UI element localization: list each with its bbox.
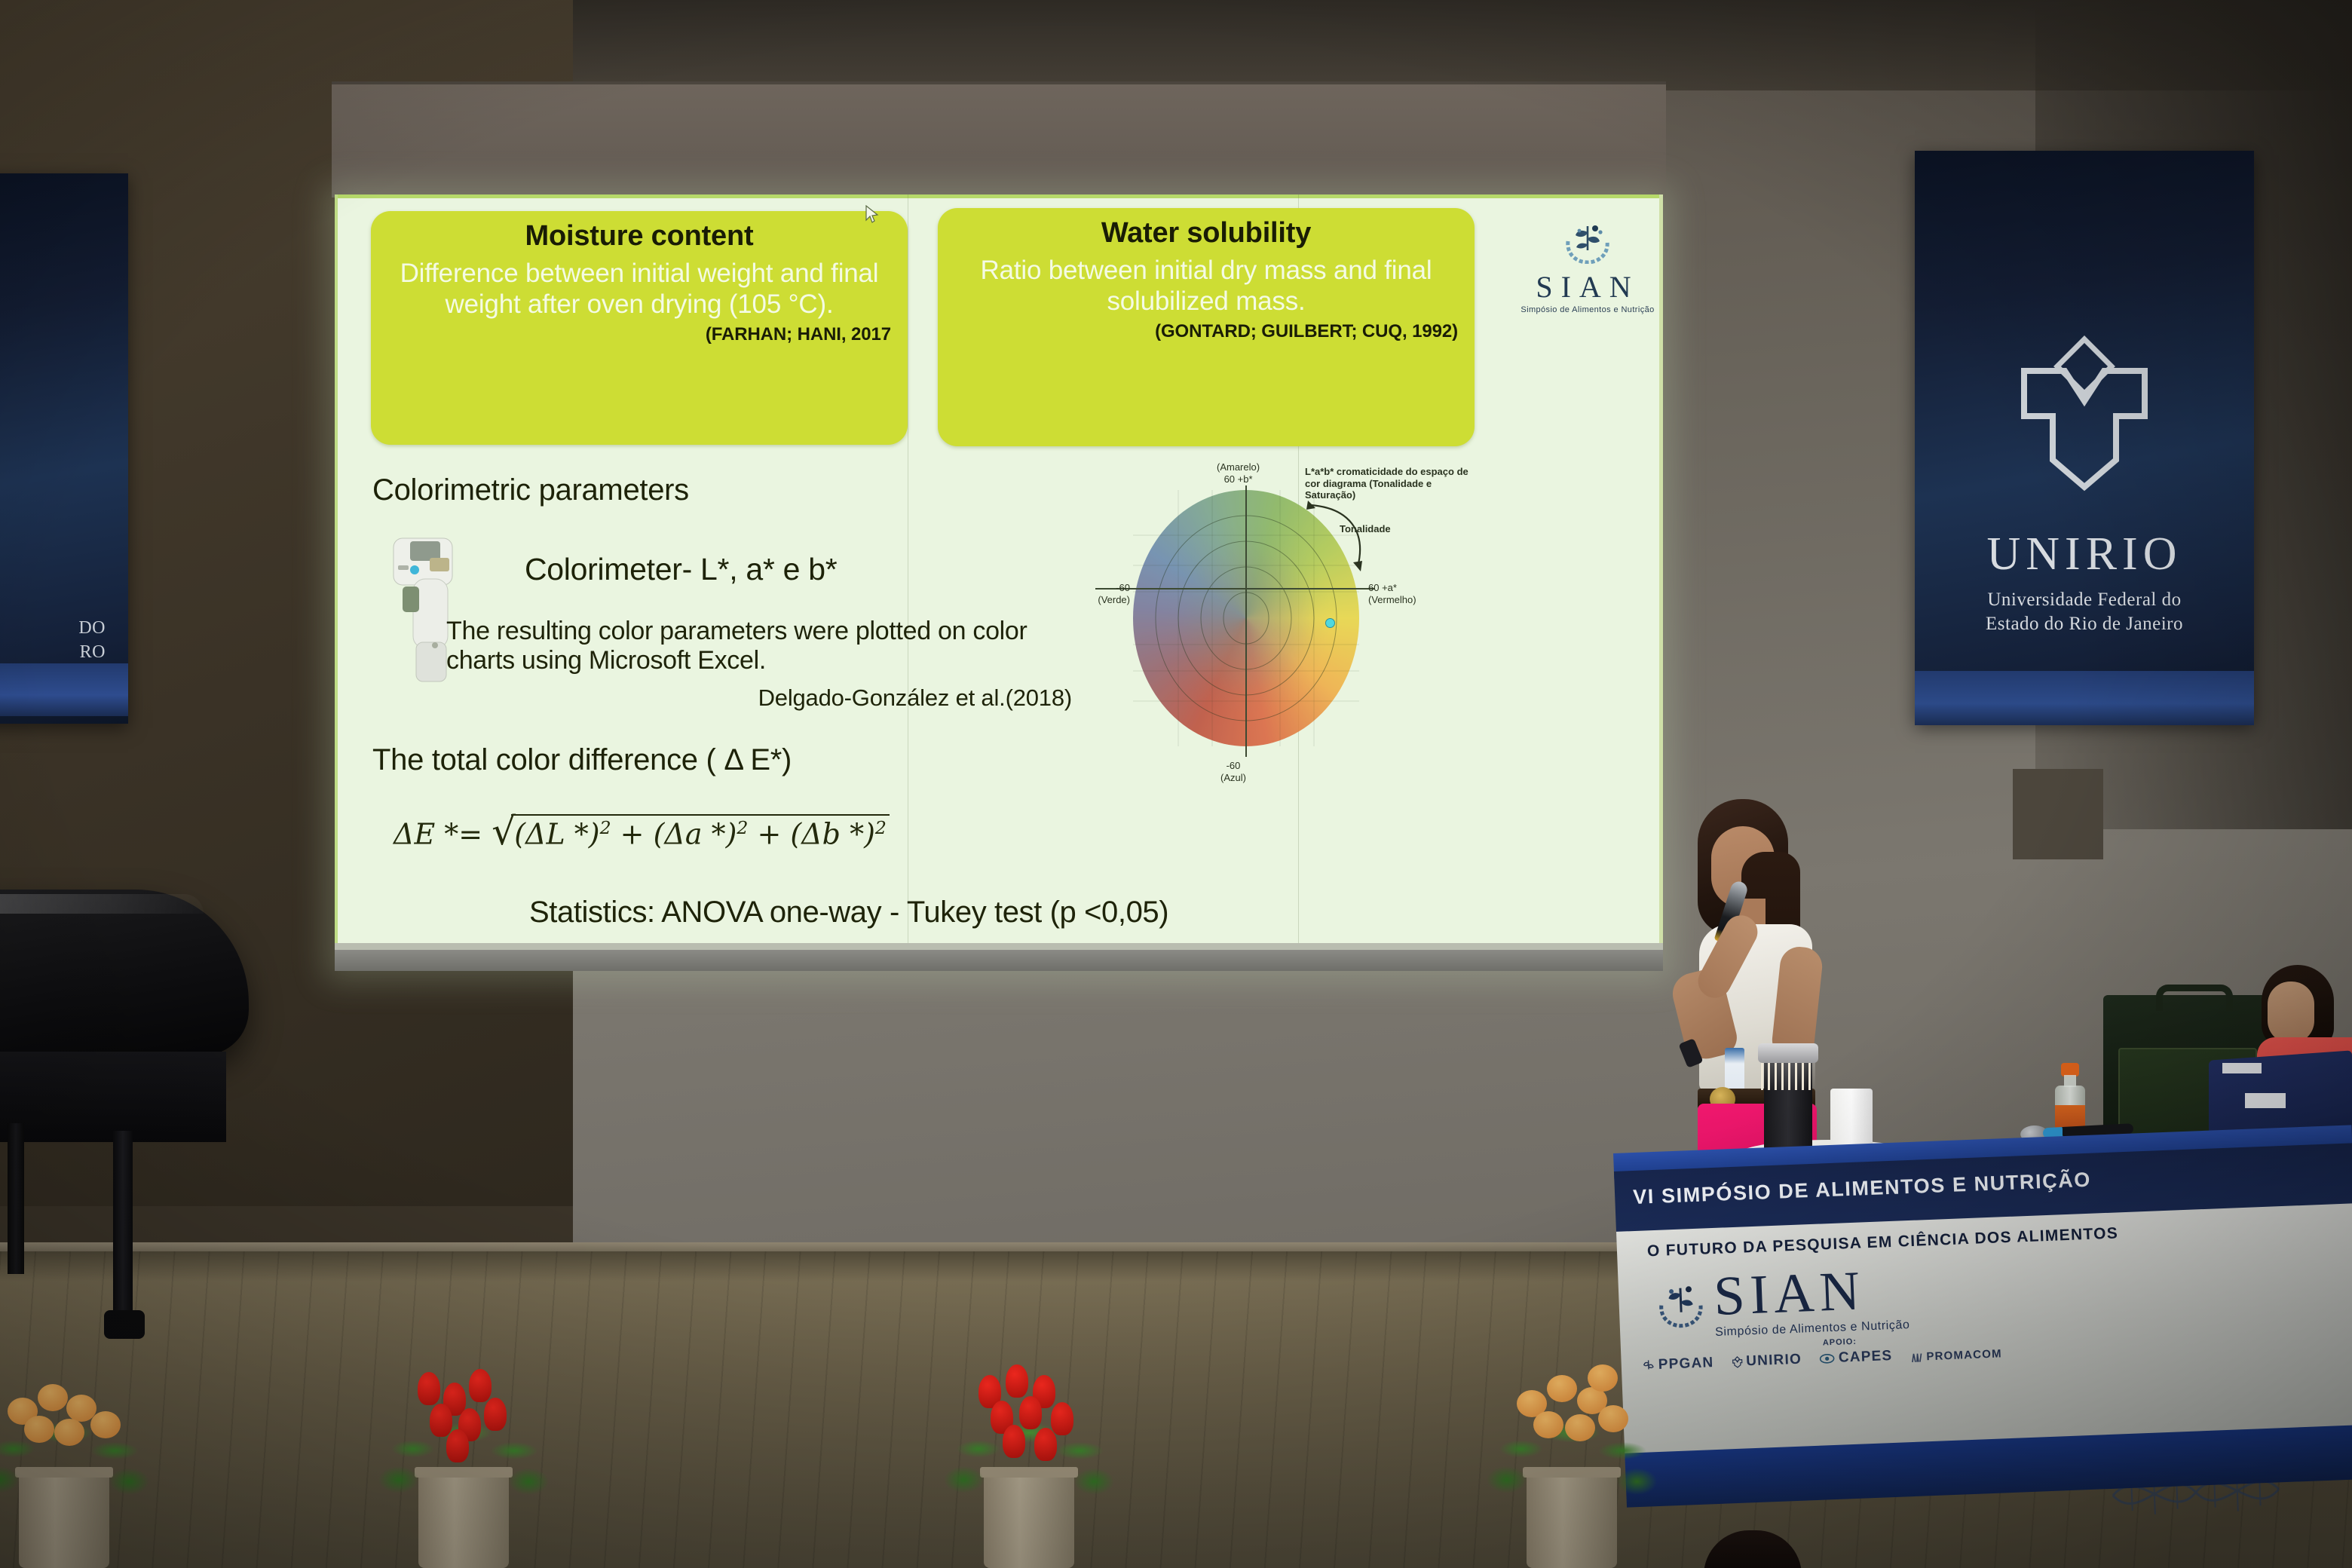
sponsor-capes: CAPES bbox=[1820, 1348, 1893, 1367]
sian-logo: SIAN Simpósio de Alimentos e Nutrição bbox=[1505, 222, 1663, 320]
unirio-word: UNIRIO bbox=[1915, 528, 2254, 581]
box-citation: (GONTARD; GUILBERT; CUQ, 1992) bbox=[954, 321, 1458, 342]
colorimeter-instrument-line: Colorimeter- L*, a* e b* bbox=[525, 552, 837, 587]
left-banner-text-line2: RO bbox=[80, 642, 106, 663]
left-banner-text-line1: DO bbox=[78, 618, 106, 639]
table-banner-white-panel: O FUTURO DA PESQUISA EM CIÊNCIA DOS ALIM… bbox=[1616, 1203, 2352, 1457]
piano-caster bbox=[104, 1310, 145, 1339]
blooms-red bbox=[384, 1364, 543, 1462]
lab-label-red: 60 +a* (Vermelho) bbox=[1368, 582, 1416, 605]
event-subtitle: O FUTURO DA PESQUISA EM CIÊNCIA DOS ALIM… bbox=[1647, 1224, 2119, 1260]
head-table: VI SIMPÓSIO DE ALIMENTOS E NUTRIÇÃO O FU… bbox=[1613, 1125, 2352, 1499]
event-title: VI SIMPÓSIO DE ALIMENTOS E NUTRIÇÃO bbox=[1633, 1168, 2092, 1209]
lab-axis-b bbox=[1245, 485, 1247, 757]
lab-diagram-caption: L*a*b* cromaticidade do espaço de cor di… bbox=[1305, 466, 1478, 501]
screen-mount bbox=[332, 84, 1666, 198]
screen-bottom-shade bbox=[335, 943, 1663, 950]
travel-mug-decoration bbox=[1761, 1061, 1815, 1090]
formula-radicand: (ΔL *)2 + (Δa *)2 + (Δb *)2 bbox=[511, 814, 890, 851]
wall-notch bbox=[2013, 769, 2103, 859]
colorimetric-heading: Colorimetric parameters bbox=[372, 473, 689, 507]
formula-exp: 2 bbox=[875, 817, 887, 838]
unirio-logo-icon bbox=[2001, 332, 2167, 513]
lab-label-blue: -60 (Azul) bbox=[1220, 760, 1246, 783]
box-body: Difference between initial weight and fi… bbox=[387, 258, 891, 320]
formula-exp: 2 bbox=[737, 817, 748, 838]
unirio-subtitle-line2: Estado do Rio de Janeiro bbox=[1915, 614, 2254, 635]
piano-body bbox=[0, 1052, 226, 1142]
unirio-banner: UNIRIO Universidade Federal do Estado do… bbox=[1915, 151, 2254, 724]
box-title: Moisture content bbox=[387, 222, 891, 252]
lab-label-green: -60 (Verde) bbox=[1091, 582, 1130, 605]
blooms-orange bbox=[0, 1364, 143, 1462]
slide-box-moisture-content: Moisture content Difference between init… bbox=[371, 211, 908, 445]
support-label: APOIO: bbox=[1823, 1337, 1857, 1348]
slide-content: Moisture content Difference between init… bbox=[335, 194, 1663, 971]
sponsor-ppgan: PPGAN bbox=[1642, 1355, 1713, 1374]
lab-chromaticity-diagram: (Amarelo) 60 +b* 60 +a* (Vermelho) -60 (… bbox=[1092, 460, 1635, 882]
sponsor-unirio: UNIRIO bbox=[1732, 1352, 1802, 1371]
screenshot-root: Moisture content Difference between init… bbox=[0, 0, 2352, 1568]
lab-label-yellow: (Amarelo) 60 +b* bbox=[1217, 461, 1260, 485]
box-title: Water solubility bbox=[954, 219, 1458, 249]
box-body: Ratio between initial dry mass and final… bbox=[954, 255, 1458, 317]
unirio-banner-left-cropped: DO RO bbox=[0, 173, 128, 724]
lab-axis-a bbox=[1095, 588, 1374, 590]
sian-plant-icon bbox=[1559, 222, 1616, 264]
briefcase-handle bbox=[2156, 985, 2233, 1011]
blooms-orange bbox=[1493, 1364, 1651, 1462]
laptop-sticker bbox=[2245, 1093, 2286, 1108]
formula-exp: 2 bbox=[600, 817, 611, 838]
laptop-sticker bbox=[2222, 1063, 2262, 1073]
colorimeter-citation: Delgado-González et al.(2018) bbox=[446, 684, 1072, 712]
sian-plant-icon bbox=[1655, 1281, 1709, 1330]
sian-logo-word: SIAN bbox=[1505, 269, 1663, 305]
capes-eye-icon bbox=[1820, 1353, 1836, 1364]
piano-leg bbox=[8, 1123, 24, 1274]
statistics-line: Statistics: ANOVA one-way - Tukey test (… bbox=[529, 896, 1168, 929]
flower-arrangement bbox=[1478, 1372, 1666, 1568]
formula-term-b: (Δb *) bbox=[790, 818, 875, 851]
sponsor-logos: PPGAN UNIRIO CAPES PROMACOM bbox=[1642, 1340, 2094, 1374]
colorimeter-note: The resulting color parameters were plot… bbox=[446, 617, 1072, 676]
total-color-difference-heading: The total color difference ( Δ E*) bbox=[372, 743, 792, 777]
hue-arrow-icon bbox=[1305, 498, 1388, 580]
screen-bottom-bar bbox=[335, 950, 1663, 971]
sian-logo-subtitle: Simpósio de Alimentos e Nutrição bbox=[1505, 305, 1663, 314]
lab-plotted-data-point bbox=[1325, 618, 1335, 628]
piano-leg bbox=[113, 1131, 133, 1319]
left-banner-footer bbox=[0, 663, 128, 716]
cloth-sian-word: SIAN bbox=[1713, 1261, 1909, 1325]
delta-e-formula: ΔE *= √ (ΔL *)2 + (Δa *)2 + (Δb *)2 bbox=[394, 814, 890, 851]
sqrt-icon: √ bbox=[492, 813, 516, 850]
travel-mug-lid bbox=[1758, 1043, 1818, 1063]
flower-arrangement bbox=[0, 1372, 158, 1568]
box-citation: (FARHAN; HANI, 2017 bbox=[387, 324, 891, 345]
flower-arrangement bbox=[935, 1372, 1123, 1568]
formula-lhs: ΔE *= bbox=[394, 818, 482, 851]
cloth-sian-logo: SIAN Simpósio de Alimentos e Nutrição bbox=[1654, 1260, 1958, 1342]
mouse-pointer-icon bbox=[865, 205, 880, 225]
unirio-mark-icon bbox=[1732, 1356, 1743, 1369]
piano-highlight bbox=[0, 894, 204, 914]
blooms-red bbox=[950, 1364, 1108, 1462]
sponsor-promacom: PROMACOM bbox=[1910, 1347, 2002, 1364]
projection-screen: Moisture content Difference between init… bbox=[335, 194, 1663, 971]
attendee-face bbox=[2268, 982, 2314, 1043]
promacom-mark-icon bbox=[1910, 1351, 1923, 1364]
unirio-subtitle-line1: Universidade Federal do bbox=[1915, 590, 2254, 611]
unirio-banner-footer bbox=[1915, 671, 2254, 725]
slide-box-water-solubility: Water solubility Ratio between initial d… bbox=[938, 208, 1475, 446]
flower-arrangement bbox=[369, 1372, 558, 1568]
formula-term-a: (Δa *) bbox=[654, 818, 737, 851]
formula-term-L: (ΔL *) bbox=[514, 818, 599, 851]
